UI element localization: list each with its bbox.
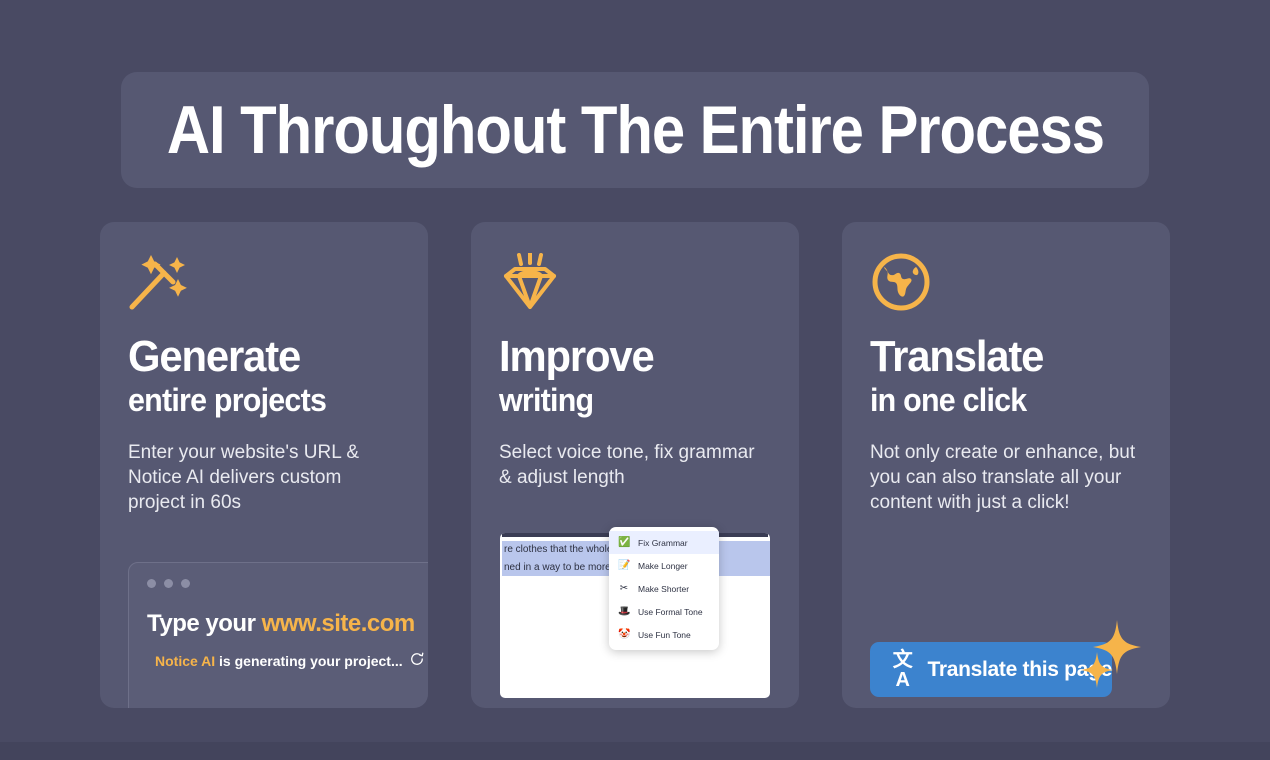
feature-cards-row: Generate entire projects Enter your webs…: [100, 222, 1170, 708]
card-description: Select voice tone, fix grammar & adjust …: [499, 440, 771, 490]
card-title: Translate: [870, 334, 1128, 380]
feature-card-generate[interactable]: Generate entire projects Enter your webs…: [100, 222, 428, 708]
window-dots: [147, 579, 428, 588]
mini-browser-preview: Type your www.site.com Notice AI is gene…: [128, 562, 428, 708]
translate-icon: 文A: [892, 650, 913, 690]
window-dot-maximize: [181, 579, 190, 588]
card-subtitle: in one click: [870, 384, 1128, 418]
generation-status-text: is generating your project...: [215, 653, 402, 669]
card-title: Generate: [128, 334, 386, 380]
card-subtitle: entire projects: [128, 384, 386, 418]
check-green-icon: ✅: [618, 537, 630, 548]
menu-item-label: Use Formal Tone: [638, 607, 703, 617]
menu-item-use-formal-tone[interactable]: 🎩 Use Formal Tone: [609, 600, 719, 623]
card-description: Enter your website's URL & Notice AI del…: [128, 440, 400, 515]
window-dot-close: [147, 579, 156, 588]
feature-card-translate[interactable]: Translate in one click Not only create o…: [842, 222, 1170, 708]
sparkle-small-icon: [1080, 652, 1114, 693]
ai-actions-dropdown[interactable]: ✅ Fix Grammar 📝 Make Longer ✂ Make Short…: [609, 527, 719, 650]
card-description: Not only create or enhance, but you can …: [870, 440, 1142, 515]
card-subtitle: writing: [499, 384, 757, 418]
url-prompt-value: www.site.com: [262, 610, 415, 637]
menu-item-fix-grammar[interactable]: ✅ Fix Grammar: [609, 531, 719, 554]
menu-item-label: Fix Grammar: [638, 538, 688, 548]
url-prompt: Type your www.site.com: [147, 610, 428, 638]
generation-status: Notice AI is generating your project...: [147, 652, 428, 669]
memo-icon: 📝: [618, 560, 630, 571]
menu-item-use-fun-tone[interactable]: 🤡 Use Fun Tone: [609, 623, 719, 646]
menu-item-label: Use Fun Tone: [638, 630, 691, 640]
magic-wand-icon: [128, 252, 400, 312]
globe-earth-icon: [870, 252, 1142, 312]
url-prompt-prefix: Type your: [147, 610, 262, 637]
feature-card-improve[interactable]: Improve writing Select voice tone, fix g…: [471, 222, 799, 708]
refresh-spinner-icon: [410, 652, 424, 669]
translate-button-area: 文A Translate this page: [870, 620, 1150, 708]
menu-item-make-shorter[interactable]: ✂ Make Shorter: [609, 577, 719, 600]
header-banner: AI Throughout The Entire Process: [121, 72, 1149, 188]
menu-item-label: Make Shorter: [638, 584, 689, 594]
top-hat-icon: 🎩: [618, 606, 630, 617]
menu-item-label: Make Longer: [638, 561, 688, 571]
clown-face-icon: 🤡: [618, 629, 630, 640]
card-title: Improve: [499, 334, 757, 380]
scissors-icon: ✂: [618, 583, 630, 594]
translate-this-page-button[interactable]: 文A Translate this page: [870, 642, 1112, 697]
brand-name: Notice AI: [155, 653, 215, 669]
window-dot-minimize: [164, 579, 173, 588]
horizontal-scrollbar[interactable]: [0, 742, 1270, 760]
menu-item-make-longer[interactable]: 📝 Make Longer: [609, 554, 719, 577]
page-title: AI Throughout The Entire Process: [166, 96, 1103, 164]
gem-diamond-icon: [499, 252, 771, 312]
